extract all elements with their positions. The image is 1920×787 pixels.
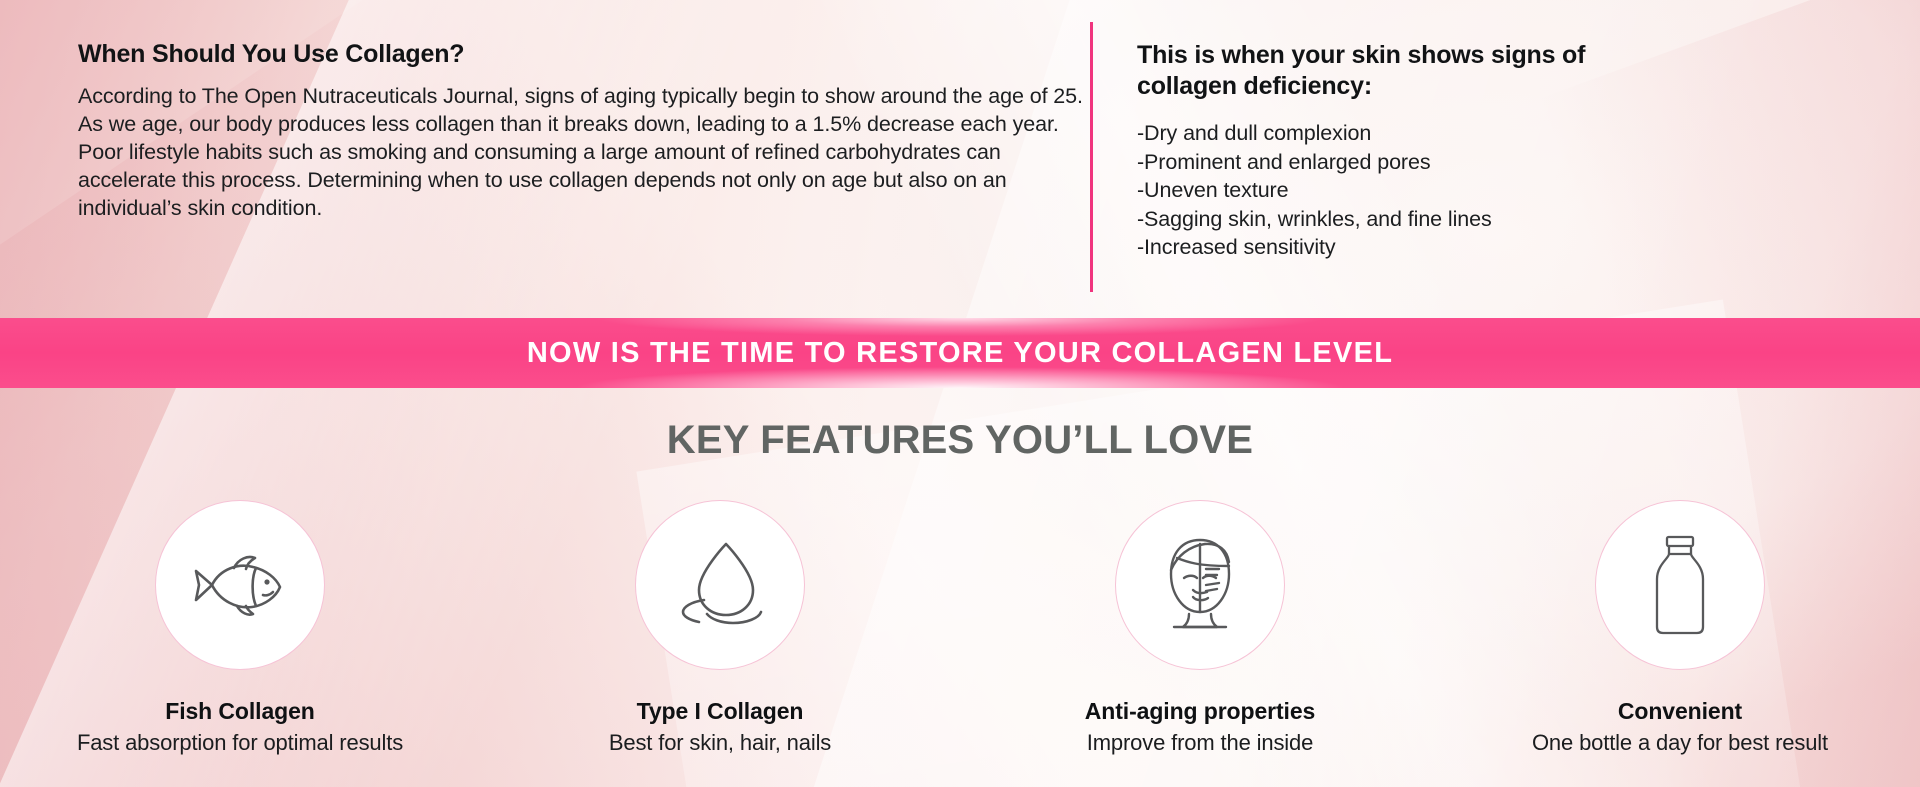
feature-item-anti-aging: Anti-aging properties Improve from the i… [960, 500, 1440, 756]
banner-text: NOW IS THE TIME TO RESTORE YOUR COLLAGEN… [527, 337, 1393, 370]
list-item: -Prominent and enlarged pores [1137, 148, 1920, 177]
feature-subtitle: Best for skin, hair, nails [609, 730, 831, 756]
face-mask-icon [1153, 536, 1247, 634]
top-content-section: When Should You Use Collagen? According … [0, 0, 1920, 318]
feature-item-fish-collagen: Fish Collagen Fast absorption for optima… [0, 500, 480, 756]
water-droplet-icon [677, 538, 763, 632]
milk-bottle-icon [1649, 533, 1711, 637]
icon-circle [1115, 500, 1285, 670]
features-row: Fish Collagen Fast absorption for optima… [0, 500, 1920, 756]
call-to-action-banner: NOW IS THE TIME TO RESTORE YOUR COLLAGEN… [0, 318, 1920, 388]
left-text-column: When Should You Use Collagen? According … [0, 0, 1090, 222]
icon-circle [155, 500, 325, 670]
list-item: -Increased sensitivity [1137, 233, 1920, 262]
right-column-heading: This is when your skin shows signs of co… [1137, 40, 1657, 102]
feature-item-convenient: Convenient One bottle a day for best res… [1440, 500, 1920, 756]
list-item: -Uneven texture [1137, 176, 1920, 205]
symptoms-list: -Dry and dull complexion -Prominent and … [1137, 119, 1920, 262]
icon-circle [1595, 500, 1765, 670]
feature-subtitle: One bottle a day for best result [1532, 730, 1828, 756]
left-column-paragraph: According to The Open Nutraceuticals Jou… [78, 82, 1090, 222]
feature-title: Fish Collagen [165, 698, 315, 725]
feature-title: Convenient [1618, 698, 1742, 725]
feature-title: Anti-aging properties [1085, 698, 1315, 725]
icon-circle [635, 500, 805, 670]
features-heading: KEY FEATURES YOU’LL LOVE [0, 418, 1920, 463]
feature-title: Type I Collagen [637, 698, 804, 725]
feature-item-type-i-collagen: Type I Collagen Best for skin, hair, nai… [480, 500, 960, 756]
feature-subtitle: Fast absorption for optimal results [77, 730, 403, 756]
feature-subtitle: Improve from the inside [1087, 730, 1313, 756]
list-item: -Dry and dull complexion [1137, 119, 1920, 148]
left-column-heading: When Should You Use Collagen? [78, 40, 1090, 69]
fish-icon [190, 549, 290, 621]
infographic-page: When Should You Use Collagen? According … [0, 0, 1920, 787]
list-item: -Sagging skin, wrinkles, and fine lines [1137, 205, 1920, 234]
right-text-column: This is when your skin shows signs of co… [1093, 0, 1920, 262]
